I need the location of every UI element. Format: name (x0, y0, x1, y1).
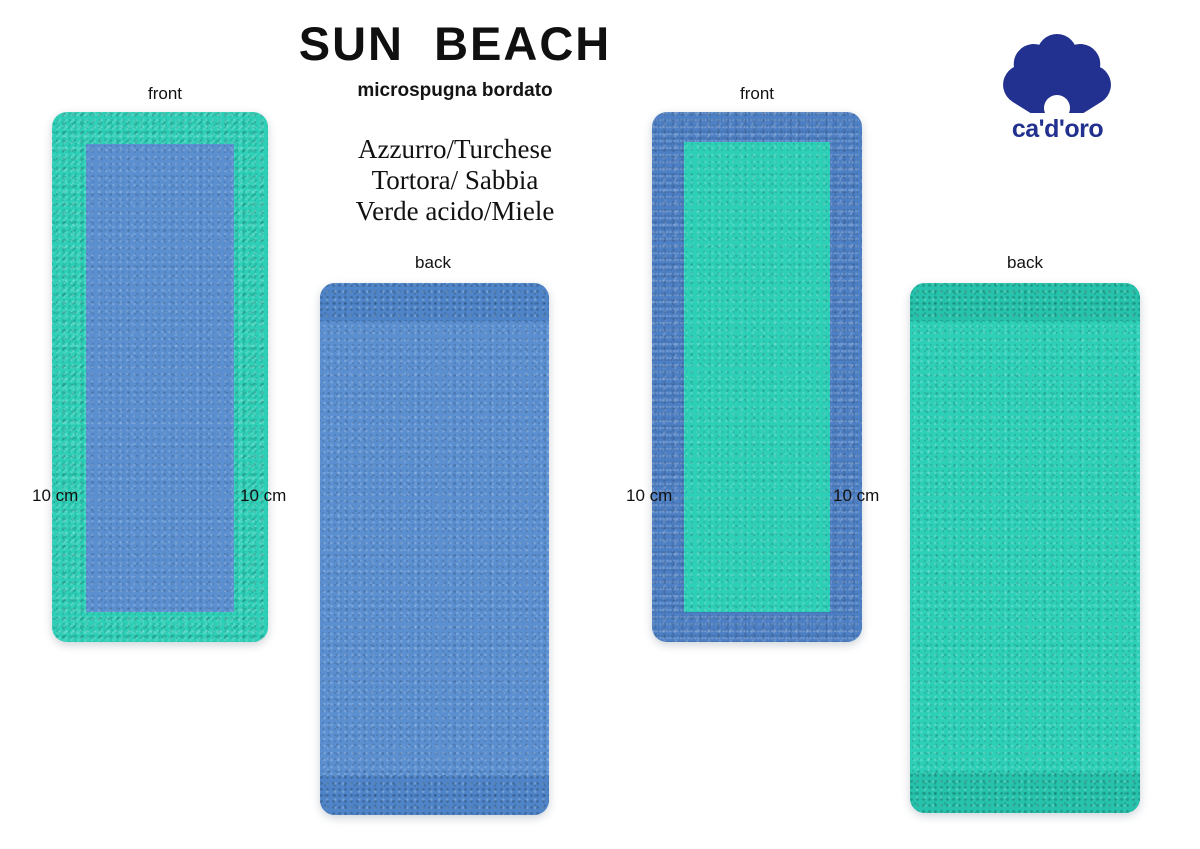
towel-2-top-hem (320, 283, 549, 321)
towel-3-front (652, 112, 862, 642)
colorway-list: Azzurro/Turchese Tortora/ Sabbia Verde a… (285, 134, 625, 227)
towel-2-texture (320, 283, 549, 815)
brand-logo: ca'd'oro (985, 18, 1130, 138)
towel-3-label: front (707, 84, 807, 104)
towel-1-label: front (115, 84, 215, 104)
towel-4-bottom-hem (910, 773, 1140, 813)
towel-2-back (320, 283, 549, 815)
towel-1-inner-panel (86, 144, 234, 612)
fan-shell-icon (985, 18, 1130, 113)
towel-3-border-label-right: 10 cm (833, 486, 879, 506)
towel-3-border-label-left: 10 cm (626, 486, 672, 506)
colorway-item-3: Verde acido/Miele (285, 196, 625, 227)
colorway-item-1: Azzurro/Turchese (285, 134, 625, 165)
towel-4-texture (910, 283, 1140, 813)
towel-1-front (52, 112, 268, 642)
towel-3-inner-panel (684, 142, 830, 612)
towel-3-panel-texture (684, 142, 830, 612)
towel-2-bottom-hem (320, 775, 549, 815)
colorway-item-2: Tortora/ Sabbia (285, 165, 625, 196)
product-sheet: SUN BEACH microspugna bordato Azzurro/Tu… (0, 0, 1200, 849)
brand-wordmark: ca'd'oro (985, 115, 1130, 144)
towel-1-border-label-left: 10 cm (32, 486, 78, 506)
towel-4-back (910, 283, 1140, 813)
towel-1-border-label-right: 10 cm (240, 486, 286, 506)
towel-4-top-hem (910, 283, 1140, 321)
towel-4-label: back (975, 253, 1075, 273)
towel-2-label: back (383, 253, 483, 273)
page-title: SUN BEACH (0, 16, 910, 71)
towel-1-panel-texture (86, 144, 234, 612)
